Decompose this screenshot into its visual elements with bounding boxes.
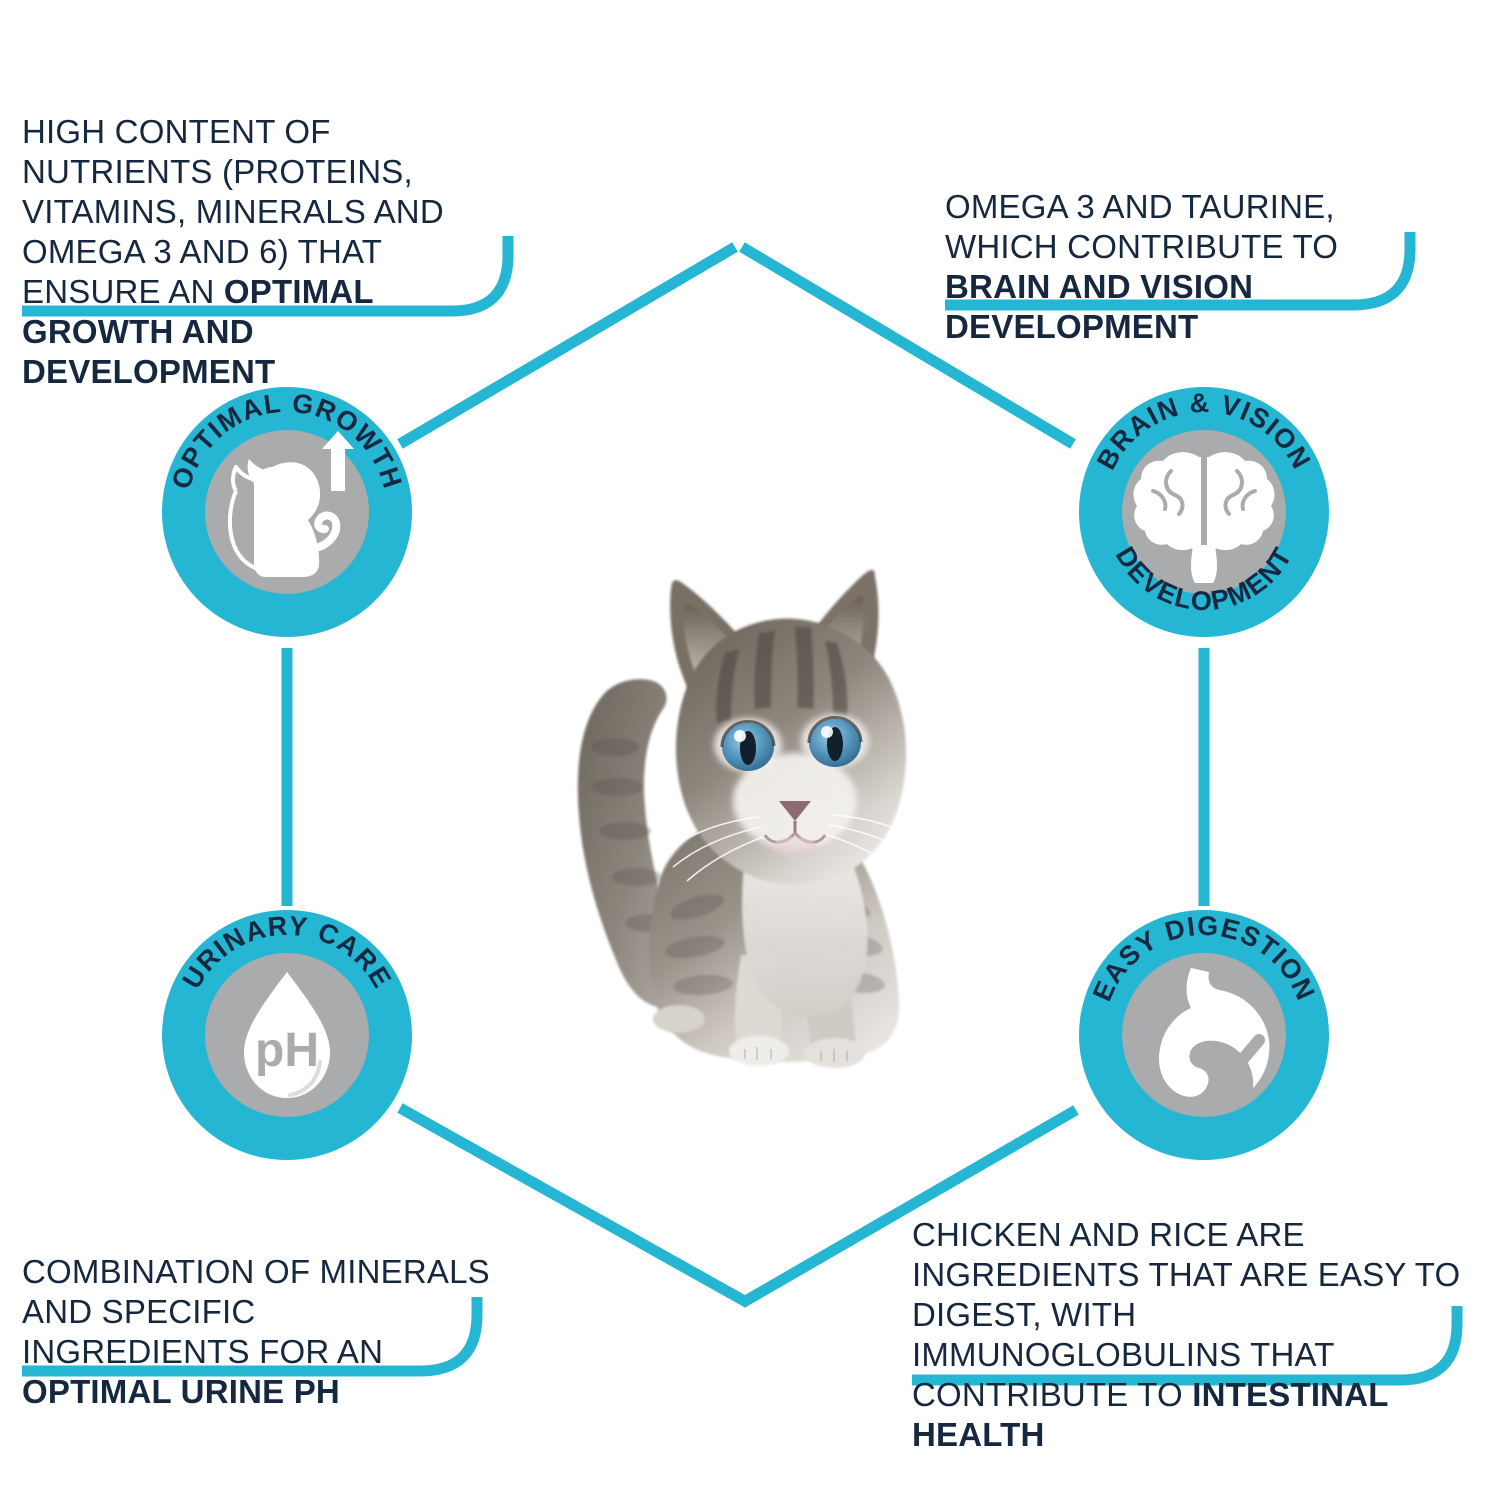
kitten-photo xyxy=(545,515,945,1075)
ph-label: pH xyxy=(255,1024,319,1077)
callout-easy-digestion: CHICKEN AND RICE ARE INGREDIENTS THAT AR… xyxy=(912,1215,1472,1455)
callout-optimal-growth-text: HIGH CONTENT OF NUTRIENTS (PROTEINS, VIT… xyxy=(22,112,492,392)
callout-urinary-care: COMBINATION OF MINERALS AND SPECIFIC ING… xyxy=(22,1252,492,1412)
badge-brain-vision[interactable]: BRAIN & VISION DEVELOPMENT xyxy=(1079,387,1329,637)
badge-optimal-growth[interactable]: OPTIMAL GROWTH xyxy=(162,387,412,637)
callout-easy-digestion-text: CHICKEN AND RICE ARE INGREDIENTS THAT AR… xyxy=(912,1215,1472,1455)
callout-brain-vision: OMEGA 3 AND TAURINE, WHICH CONTRIBUTE TO… xyxy=(945,187,1415,347)
infographic-canvas: HIGH CONTENT OF NUTRIENTS (PROTEINS, VIT… xyxy=(0,0,1500,1500)
callout-brain-vision-text: OMEGA 3 AND TAURINE, WHICH CONTRIBUTE TO… xyxy=(945,187,1415,347)
callout-urinary-care-text: COMBINATION OF MINERALS AND SPECIFIC ING… xyxy=(22,1252,492,1412)
callout-optimal-growth: HIGH CONTENT OF NUTRIENTS (PROTEINS, VIT… xyxy=(22,112,492,392)
badge-easy-digestion[interactable]: EASY DIGESTION xyxy=(1079,910,1329,1160)
badge-urinary-care[interactable]: URINARY CARE pH xyxy=(162,910,412,1160)
